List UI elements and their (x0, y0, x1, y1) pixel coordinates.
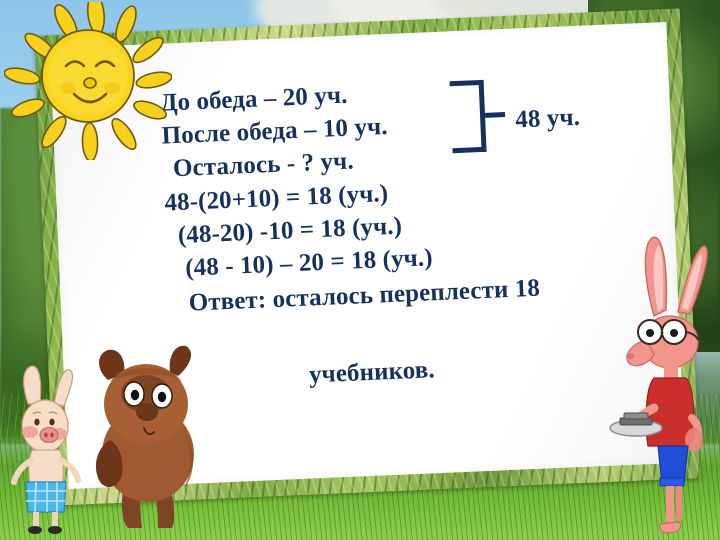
answer-line-1: Ответ: осталось переплести 18 (188, 275, 540, 318)
answer-line-2: учебников. (308, 356, 435, 389)
brace-tick-icon (485, 112, 505, 118)
equation-line-3: (48 - 10) – 20 = 18 (уч.) (185, 244, 433, 283)
sun-icon (4, 2, 172, 160)
problem-line-2: После обеда – 10 уч. (161, 113, 388, 151)
rabbit-character (608, 232, 720, 540)
slide-canvas: До обеда – 20 уч. После обеда – 10 уч. О… (0, 0, 720, 540)
equation-line-1: 48-(20+10) = 18 (уч.) (164, 180, 389, 218)
equation-line-2: (48-20) -10 = 18 (уч.) (177, 212, 402, 250)
problem-line-1: До обеда – 20 уч. (160, 82, 348, 118)
piglet-character (2, 364, 88, 536)
winnie-pooh-character (80, 336, 212, 534)
curly-brace-bracket-icon (450, 80, 487, 153)
problem-line-3: Осталось - ? уч. (172, 147, 354, 183)
total-amount-label: 48 уч. (515, 104, 581, 135)
